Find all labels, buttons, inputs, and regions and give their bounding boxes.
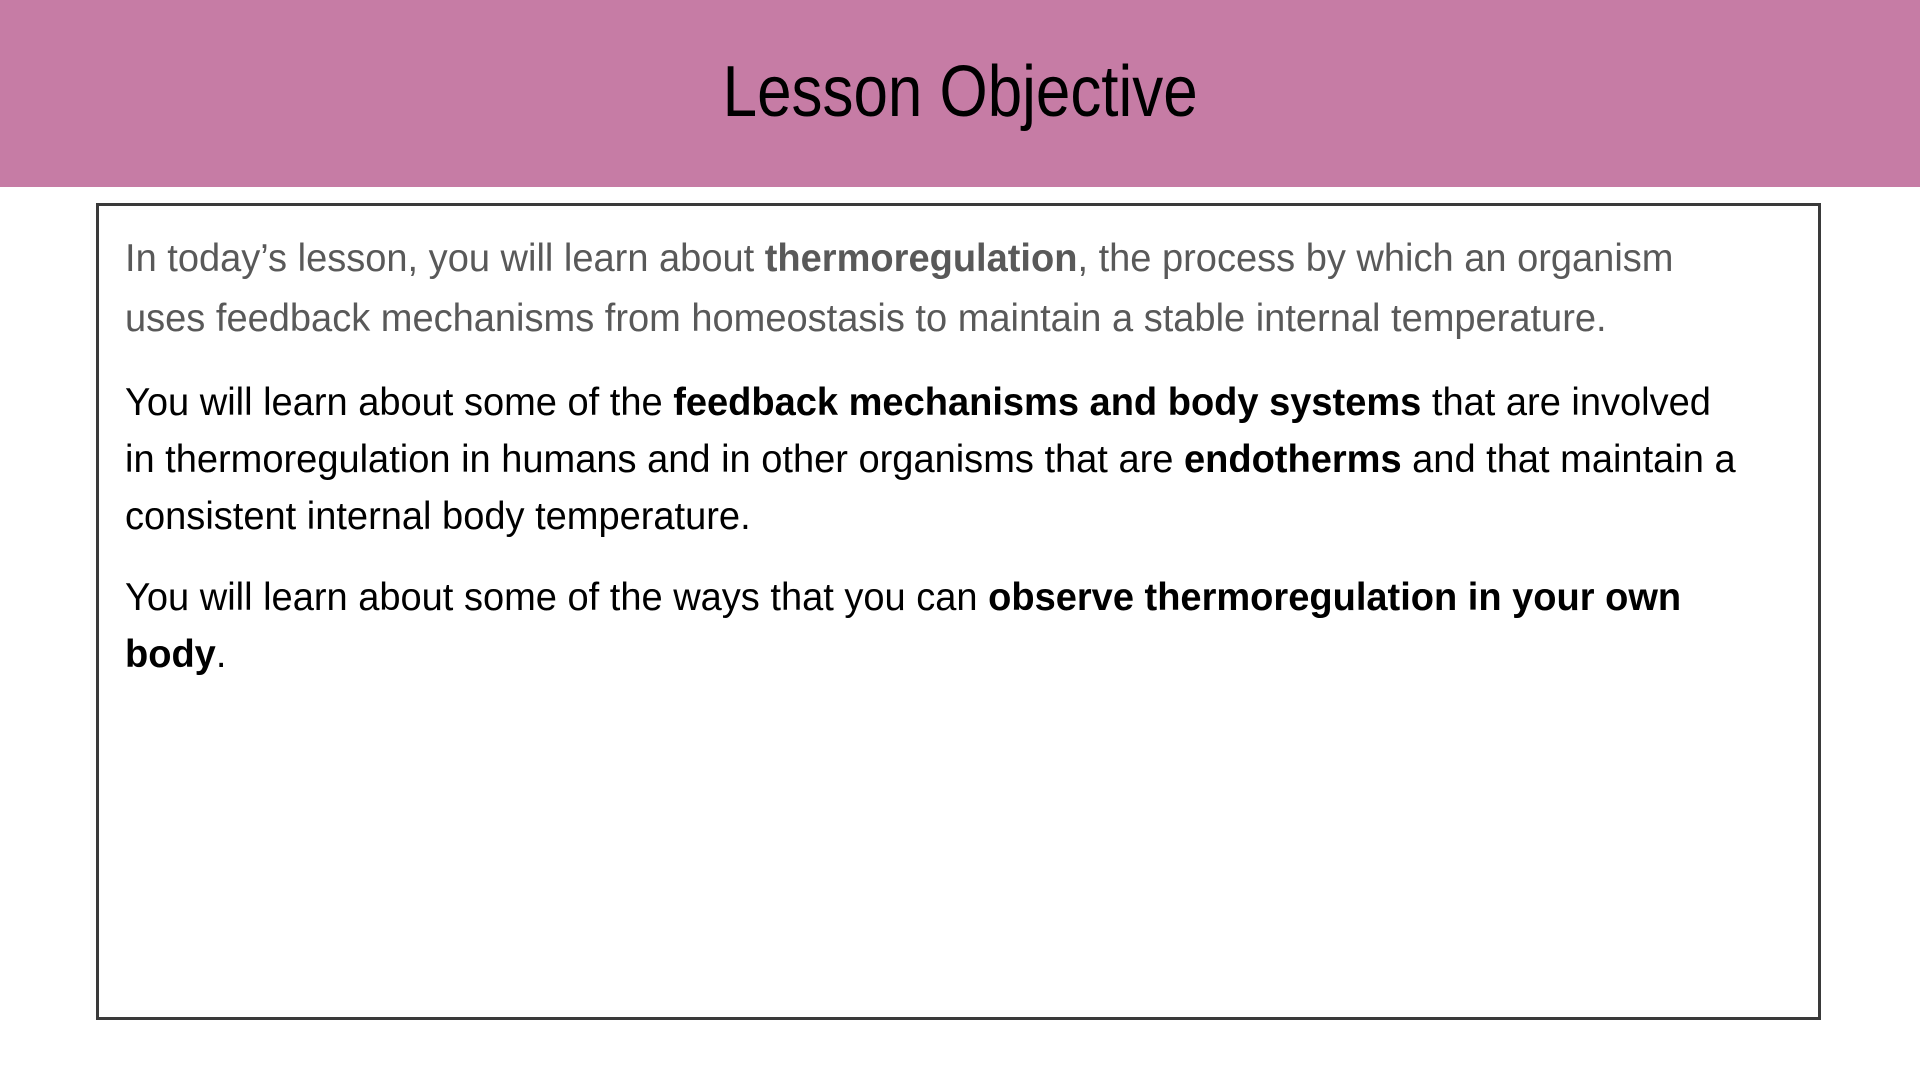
intro-text-part-1: In today’s lesson, you will learn about xyxy=(125,237,765,280)
paragraph-observe-thermoregulation: You will learn about some of the ways th… xyxy=(125,569,1750,683)
intro-bold-thermoregulation: thermoregulation xyxy=(765,237,1078,280)
body3-text-part-1: You will learn about some of the ways th… xyxy=(125,576,988,619)
lesson-objective-slide: Lesson Objective In today’s lesson, you … xyxy=(0,0,1920,1080)
body2-bold-endotherms: endotherms xyxy=(1184,438,1402,481)
page-title: Lesson Objective xyxy=(723,56,1198,128)
paragraph-intro: In today’s lesson, you will learn about … xyxy=(125,229,1750,349)
body3-text-part-2: . xyxy=(216,633,227,676)
body2-text-part-1: You will learn about some of the xyxy=(125,381,673,424)
paragraph-feedback-mechanisms: You will learn about some of the feedbac… xyxy=(125,374,1750,545)
slide-header-band: Lesson Objective xyxy=(0,0,1920,187)
content-box: In today’s lesson, you will learn about … xyxy=(96,203,1821,1020)
body2-bold-feedback-mechanisms: feedback mechanisms and body systems xyxy=(673,381,1421,424)
